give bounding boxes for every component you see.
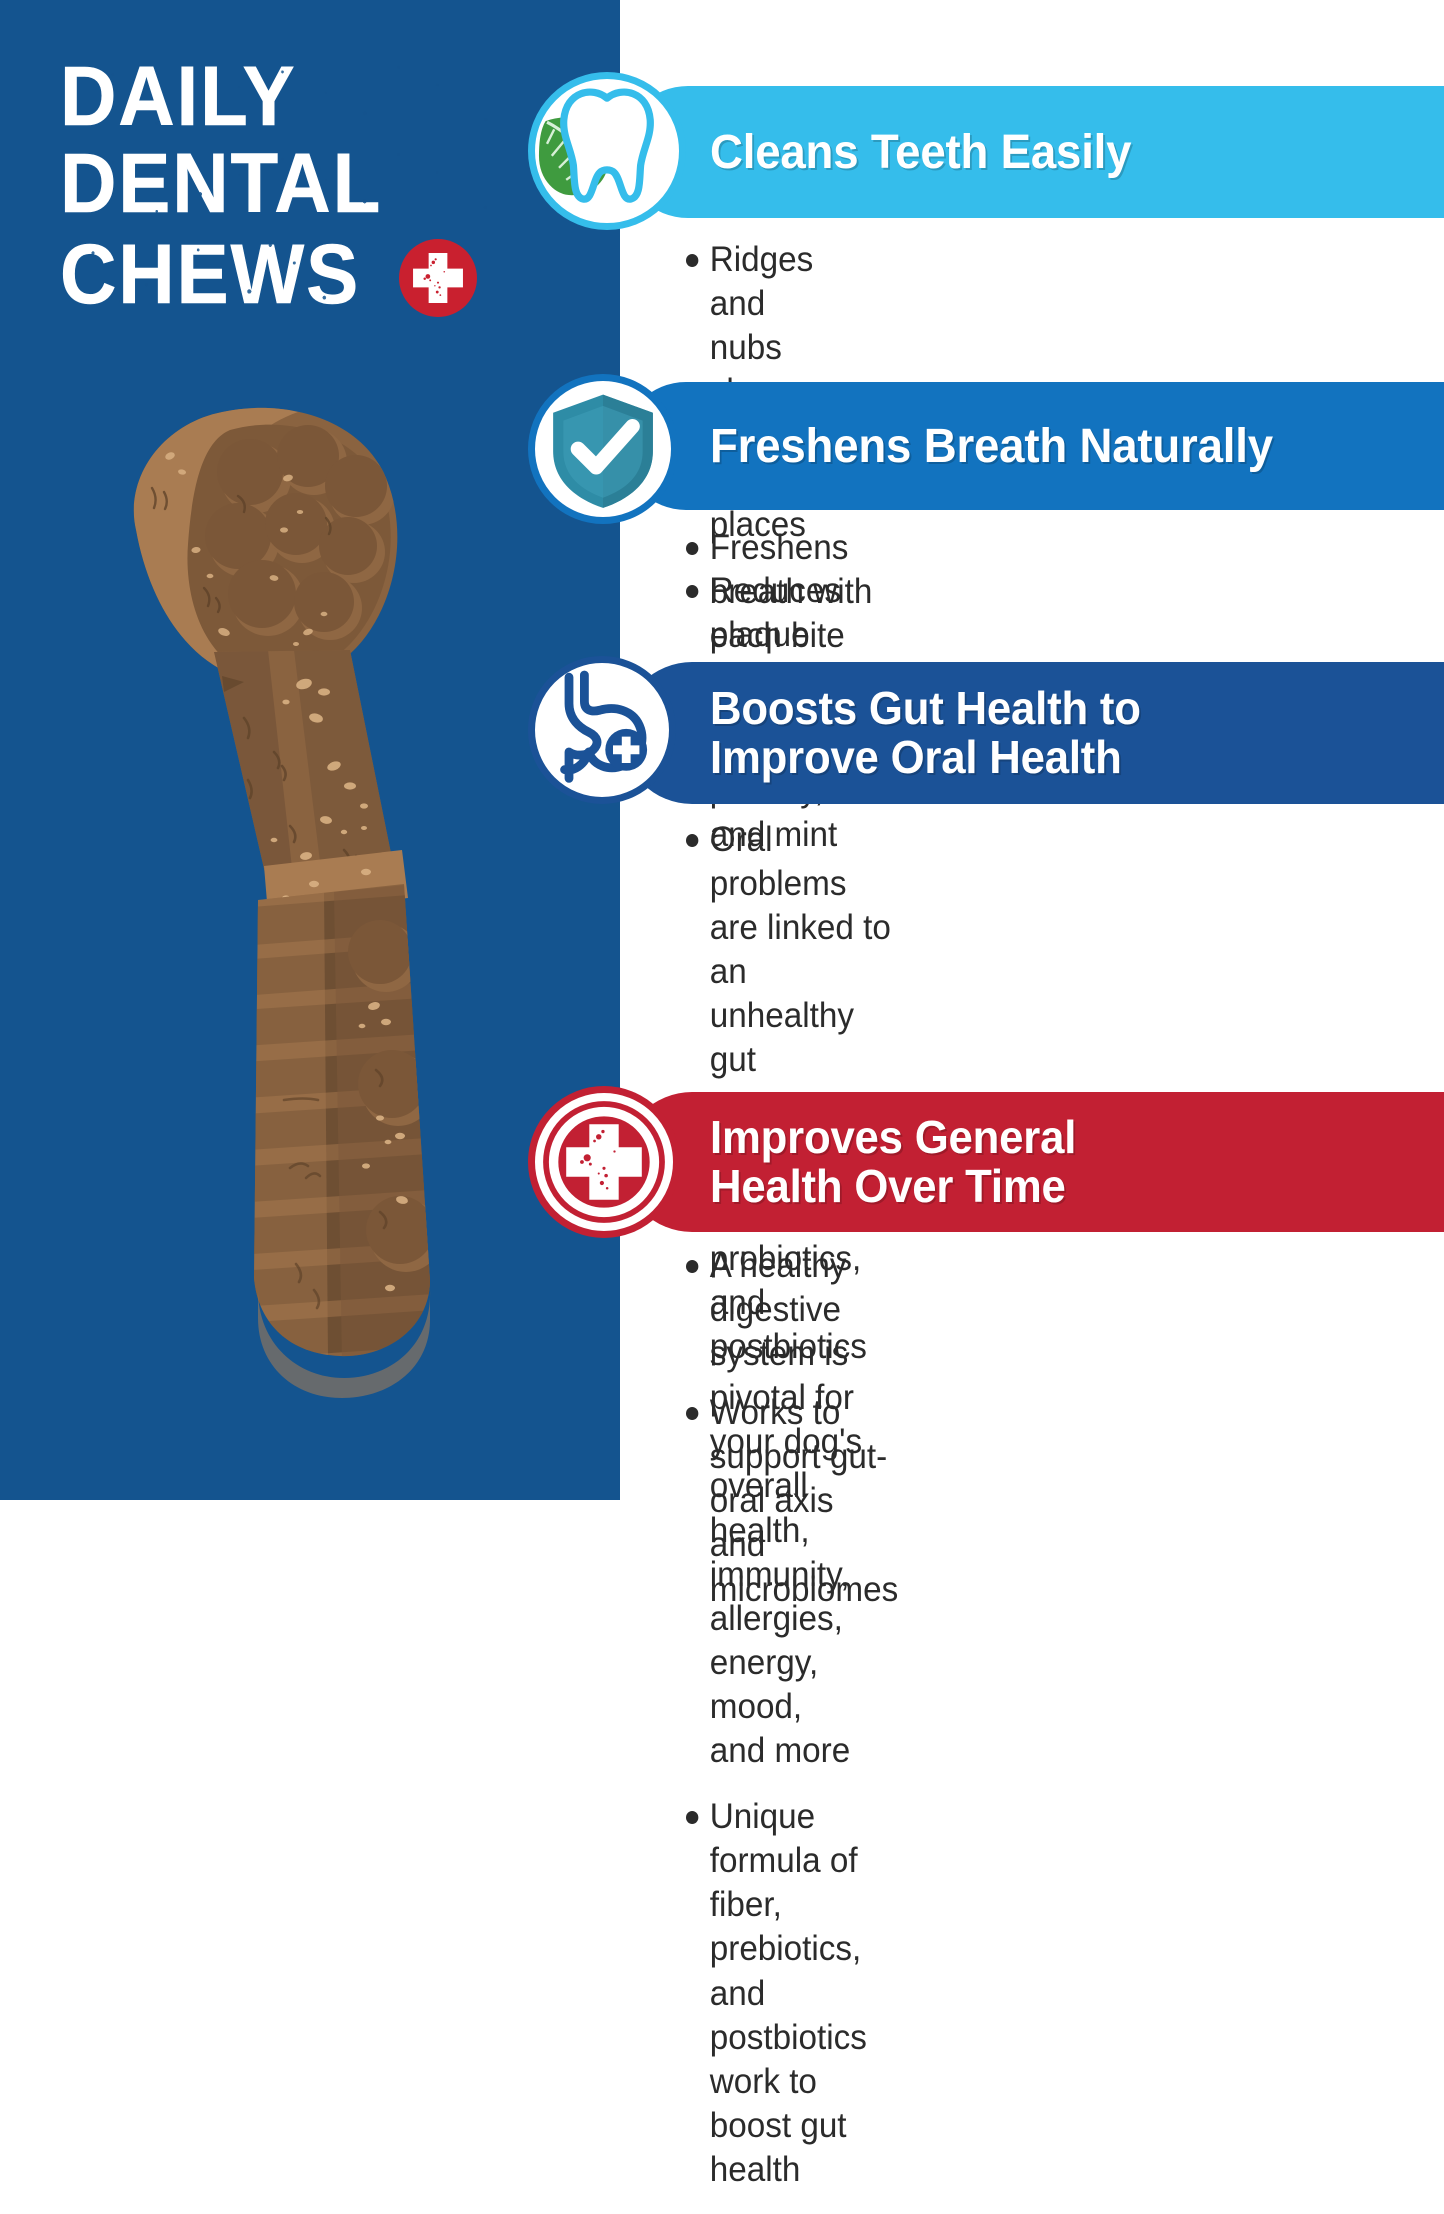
benefits-list: Cleans Teeth Easily bbox=[0, 0, 1444, 1500]
bullet-dot bbox=[686, 1811, 698, 1824]
benefit-banner-gut-health: Boosts Gut Health to Improve Oral Health bbox=[622, 662, 1444, 804]
benefit-heading: Cleans Teeth Easily bbox=[710, 125, 1131, 180]
benefit-heading-line-2: Improve Oral Health bbox=[710, 733, 1141, 782]
benefit-heading: Freshens Breath Naturally bbox=[710, 419, 1273, 474]
list-item: Freshens breath with each bite bbox=[686, 526, 878, 658]
benefit-heading-line-1: Boosts Gut Health to bbox=[710, 684, 1141, 733]
red-cross-icon bbox=[528, 1086, 680, 1238]
tooth-shape bbox=[564, 92, 651, 199]
bullet-dot bbox=[686, 254, 698, 267]
benefit-heading-line-2: Health Over Time bbox=[710, 1162, 1076, 1211]
benefit-heading-line-1: Improves General bbox=[710, 1113, 1076, 1162]
list-item: Unique formula of fiber, prebiotics, and… bbox=[686, 1795, 867, 2192]
list-item: A healthy digestive system is pivotal fo… bbox=[686, 1244, 867, 1773]
shield-check-icon bbox=[528, 374, 678, 524]
bullet-dot bbox=[686, 834, 698, 847]
bullet-dot bbox=[686, 542, 698, 555]
tooth-with-mint-leaf-icon bbox=[528, 72, 686, 230]
stomach-plus-icon bbox=[528, 656, 676, 804]
benefit-heading: Boosts Gut Health to Improve Oral Health bbox=[710, 684, 1141, 782]
benefit-bullets: A healthy digestive system is pivotal fo… bbox=[686, 1244, 876, 2214]
benefit-heading: Improves General Health Over Time bbox=[710, 1113, 1076, 1211]
bullet-dot bbox=[686, 1260, 698, 1273]
benefit-banner-general-health: Improves General Health Over Time bbox=[622, 1092, 1444, 1232]
list-item: Oral problems are linked to an unhealthy… bbox=[686, 818, 898, 1083]
benefit-banner-cleans-teeth: Cleans Teeth Easily bbox=[622, 86, 1444, 218]
benefit-banner-freshens-breath: Freshens Breath Naturally bbox=[622, 382, 1444, 510]
